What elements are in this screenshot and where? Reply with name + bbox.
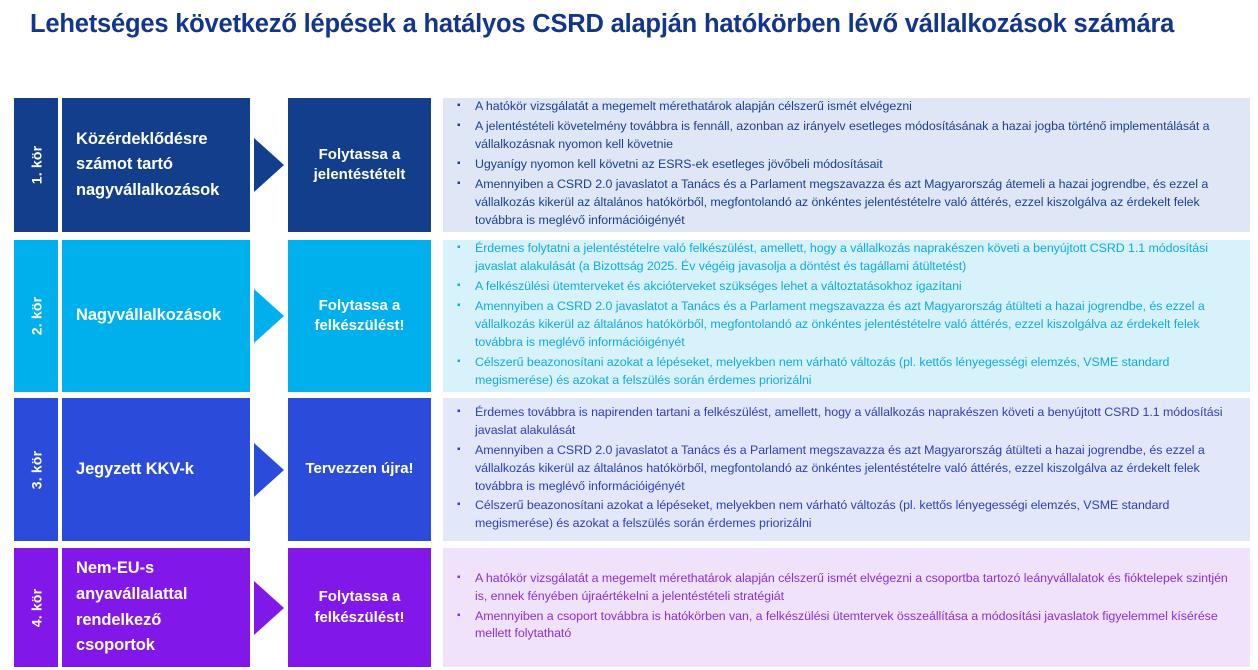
arrow-right-icon bbox=[254, 581, 284, 635]
round-label-box-1: 1. kör bbox=[14, 98, 58, 232]
round-row-3: 3. kör Jegyzett KKV-k Tervezzen újra! Ér… bbox=[0, 398, 1258, 541]
category-box-2: Nagyvállalkozások bbox=[62, 240, 250, 392]
list-item: Amennyiben a CSRD 2.0 javaslatot a Tanác… bbox=[453, 298, 1236, 352]
list-item: Célszerű beazonosítani azokat a lépéseke… bbox=[453, 354, 1236, 390]
list-item: Amennyiben a csoport továbbra is hatókör… bbox=[453, 608, 1236, 644]
round-label-text-2: 2. kör bbox=[28, 297, 44, 336]
list-item: Amennyiben a CSRD 2.0 javaslatot a Tanác… bbox=[453, 176, 1236, 230]
round-label-text-4: 4. kör bbox=[28, 588, 44, 627]
category-box-3: Jegyzett KKV-k bbox=[62, 398, 250, 541]
arrow-zone-3 bbox=[250, 398, 288, 541]
action-label-3: Tervezzen újra! bbox=[305, 459, 413, 479]
list-item: A jelentéstételi követelmény továbbra is… bbox=[453, 118, 1236, 154]
bullets-panel-1: A hatókör vizsgálatát a megemelt méretha… bbox=[443, 98, 1250, 232]
list-item: A felkészülési ütemterveket és akcióterv… bbox=[453, 278, 1236, 296]
action-box-4: Folytassa a felkészülést! bbox=[288, 548, 431, 667]
list-item: Érdemes továbbra is napirenden tartani a… bbox=[453, 404, 1236, 440]
bullet-list-1: A hatókör vizsgálatát a megemelt méretha… bbox=[453, 98, 1236, 232]
round-row-4: 4. kör Nem-EU-s anyavállalattal rendelke… bbox=[0, 548, 1258, 667]
action-box-1: Folytassa a jelentéstételt bbox=[288, 98, 431, 232]
arrow-zone-4 bbox=[250, 548, 288, 667]
bullets-panel-2: Érdemes folytatni a jelentéstételre való… bbox=[443, 240, 1250, 392]
arrow-right-icon bbox=[254, 443, 284, 497]
round-label-text-1: 1. kör bbox=[28, 146, 44, 185]
category-label-1: Közérdeklődésre számot tartó nagyvállalk… bbox=[76, 127, 236, 204]
action-label-4: Folytassa a felkészülést! bbox=[294, 587, 425, 628]
action-box-3: Tervezzen újra! bbox=[288, 398, 431, 541]
round-label-box-4: 4. kör bbox=[14, 548, 58, 667]
list-item: Célszerű beazonosítani azokat a lépéseke… bbox=[453, 497, 1236, 533]
bullet-list-3: Érdemes továbbra is napirenden tartani a… bbox=[453, 404, 1236, 536]
list-item: Ugyanígy nyomon kell követni az ESRS-ek … bbox=[453, 156, 1236, 174]
list-item: A hatókör vizsgálatát a megemelt méretha… bbox=[453, 98, 1236, 116]
category-box-1: Közérdeklődésre számot tartó nagyvállalk… bbox=[62, 98, 250, 232]
arrow-right-icon bbox=[254, 138, 284, 192]
bullets-panel-4: A hatókör vizsgálatát a megemelt méretha… bbox=[443, 548, 1250, 667]
arrow-zone-1 bbox=[250, 98, 288, 232]
action-box-2: Folytassa a felkészülést! bbox=[288, 240, 431, 392]
round-label-box-3: 3. kör bbox=[14, 398, 58, 541]
page-title: Lehetséges következő lépések a hatályos … bbox=[30, 8, 1235, 41]
category-label-4: Nem-EU-s anyavállalattal rendelkező csop… bbox=[76, 556, 236, 658]
round-label-box-2: 2. kör bbox=[14, 240, 58, 392]
action-label-1: Folytassa a jelentéstételt bbox=[294, 145, 425, 186]
bullet-list-2: Érdemes folytatni a jelentéstételre való… bbox=[453, 240, 1236, 392]
round-label-text-3: 3. kör bbox=[28, 450, 44, 489]
action-label-2: Folytassa a felkészülést! bbox=[294, 296, 425, 337]
category-label-2: Nagyvállalkozások bbox=[76, 303, 221, 329]
arrow-right-icon bbox=[254, 289, 284, 343]
category-box-4: Nem-EU-s anyavállalattal rendelkező csop… bbox=[62, 548, 250, 667]
category-label-3: Jegyzett KKV-k bbox=[76, 457, 194, 483]
bullets-panel-3: Érdemes továbbra is napirenden tartani a… bbox=[443, 398, 1250, 541]
list-item: Amennyiben a CSRD 2.0 javaslatot a Tanác… bbox=[453, 442, 1236, 496]
list-item: A hatókör vizsgálatát a megemelt méretha… bbox=[453, 570, 1236, 606]
round-row-2: 2. kör Nagyvállalkozások Folytassa a fel… bbox=[0, 240, 1258, 392]
bullet-list-4: A hatókör vizsgálatát a megemelt méretha… bbox=[453, 570, 1236, 646]
list-item: Érdemes folytatni a jelentéstételre való… bbox=[453, 240, 1236, 276]
round-row-1: 1. kör Közérdeklődésre számot tartó nagy… bbox=[0, 98, 1258, 232]
arrow-zone-2 bbox=[250, 240, 288, 392]
